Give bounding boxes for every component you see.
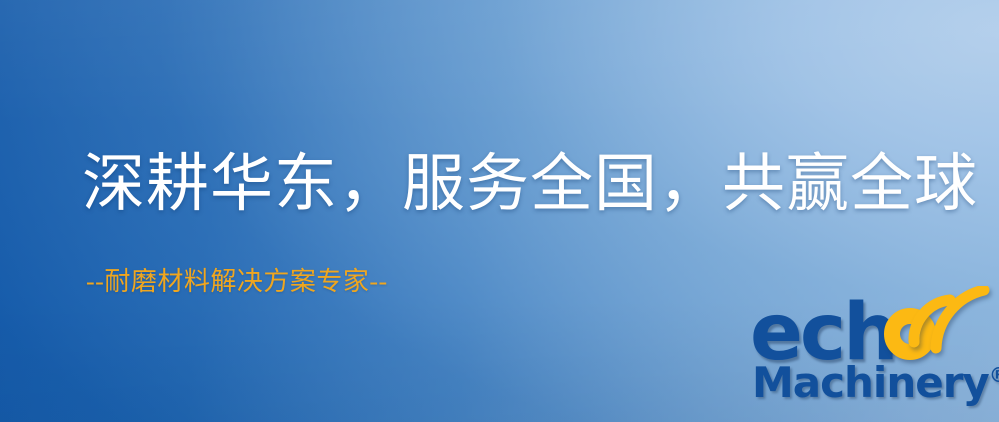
banner-subtitle: --耐磨材料解决方案专家--	[86, 266, 388, 297]
echo-machinery-logo[interactable]: ech Machinery®	[748, 298, 994, 422]
logo-wordmark: Machinery®	[752, 362, 999, 404]
signal-waves-icon	[906, 286, 996, 358]
logo-wordmark-text: Machinery	[752, 358, 989, 407]
banner-headline: 深耕华东，服务全国，共赢全球	[82, 148, 942, 220]
registered-trademark-icon: ®	[989, 363, 999, 387]
hero-banner: 深耕华东，服务全国，共赢全球 --耐磨材料解决方案专家-- ech Machin…	[0, 0, 999, 422]
